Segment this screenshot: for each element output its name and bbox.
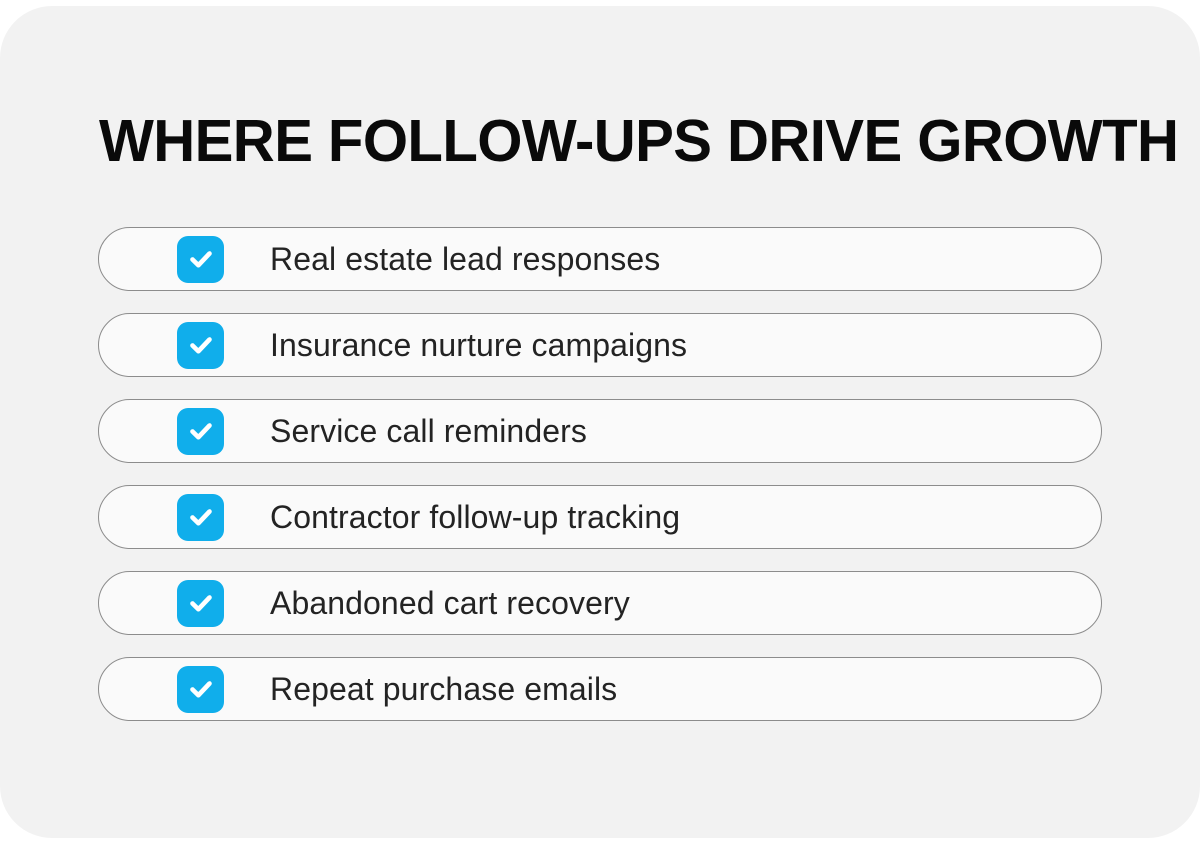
checklist: Real estate lead responses Insurance nur…	[98, 227, 1102, 721]
list-item[interactable]: Service call reminders	[98, 399, 1102, 463]
list-item-label: Insurance nurture campaigns	[270, 327, 687, 363]
list-item[interactable]: Real estate lead responses	[98, 227, 1102, 291]
check-icon[interactable]	[177, 666, 224, 713]
list-item-label: Abandoned cart recovery	[270, 585, 630, 621]
list-item-label: Service call reminders	[270, 413, 587, 449]
list-item-label: Real estate lead responses	[270, 241, 660, 277]
check-icon[interactable]	[177, 236, 224, 283]
check-icon[interactable]	[177, 322, 224, 369]
list-item[interactable]: Insurance nurture campaigns	[98, 313, 1102, 377]
list-item-label: Repeat purchase emails	[270, 671, 617, 707]
list-item[interactable]: Abandoned cart recovery	[98, 571, 1102, 635]
check-icon[interactable]	[177, 408, 224, 455]
check-icon[interactable]	[177, 580, 224, 627]
page-title: WHERE FOLLOW-UPS DRIVE GROWTH	[99, 110, 1094, 172]
check-icon[interactable]	[177, 494, 224, 541]
list-item[interactable]: Contractor follow-up tracking	[98, 485, 1102, 549]
checklist-card: WHERE FOLLOW-UPS DRIVE GROWTH Real estat…	[0, 6, 1200, 838]
list-item[interactable]: Repeat purchase emails	[98, 657, 1102, 721]
list-item-label: Contractor follow-up tracking	[270, 499, 680, 535]
